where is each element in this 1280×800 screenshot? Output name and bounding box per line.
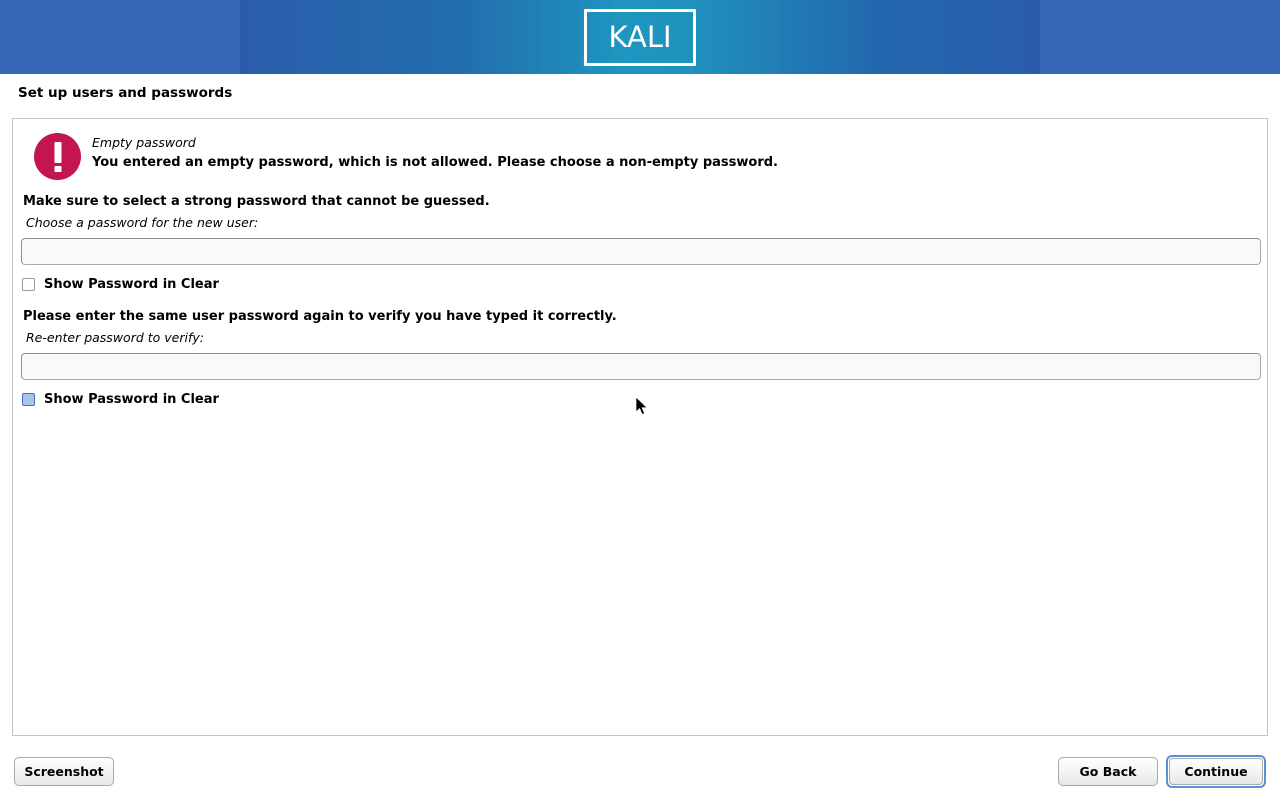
show-password-checkbox-label-1: Show Password in Clear bbox=[44, 277, 219, 292]
content-panel: Empty password You entered an empty pass… bbox=[12, 118, 1268, 736]
password-input[interactable] bbox=[21, 238, 1261, 265]
alert-message: You entered an empty password, which is … bbox=[92, 155, 778, 170]
kali-logo: KALI bbox=[584, 9, 696, 66]
show-password-checkbox-2[interactable] bbox=[22, 393, 35, 406]
page-title: Set up users and passwords bbox=[18, 85, 232, 101]
empty-password-alert: Empty password You entered an empty pass… bbox=[23, 127, 1253, 189]
alert-title: Empty password bbox=[92, 135, 196, 150]
kali-logo-text: KALI bbox=[584, 22, 696, 51]
password-field-label: Choose a password for the new user: bbox=[26, 215, 258, 230]
kali-logo-notch-left bbox=[581, 55, 584, 69]
error-exclamation-icon bbox=[34, 133, 81, 180]
verify-password-input[interactable] bbox=[21, 353, 1261, 380]
kali-logo-notch-bottom bbox=[584, 66, 602, 69]
show-password-checkbox-row-2[interactable]: Show Password in Clear bbox=[22, 392, 219, 407]
go-back-button[interactable]: Go Back bbox=[1058, 757, 1158, 786]
password-strength-heading: Make sure to select a strong password th… bbox=[23, 194, 490, 209]
verify-password-heading: Please enter the same user password agai… bbox=[23, 309, 617, 324]
verify-field-label: Re-enter password to verify: bbox=[26, 330, 204, 345]
continue-button[interactable]: Continue bbox=[1169, 758, 1263, 785]
kali-banner: KALI bbox=[0, 0, 1280, 74]
show-password-checkbox-label-2: Show Password in Clear bbox=[44, 392, 219, 407]
screenshot-button[interactable]: Screenshot bbox=[14, 757, 114, 786]
exclamation-dot bbox=[54, 166, 61, 172]
show-password-checkbox-1[interactable] bbox=[22, 278, 35, 291]
exclamation-bar bbox=[54, 142, 61, 163]
show-password-checkbox-row-1[interactable]: Show Password in Clear bbox=[22, 277, 219, 292]
